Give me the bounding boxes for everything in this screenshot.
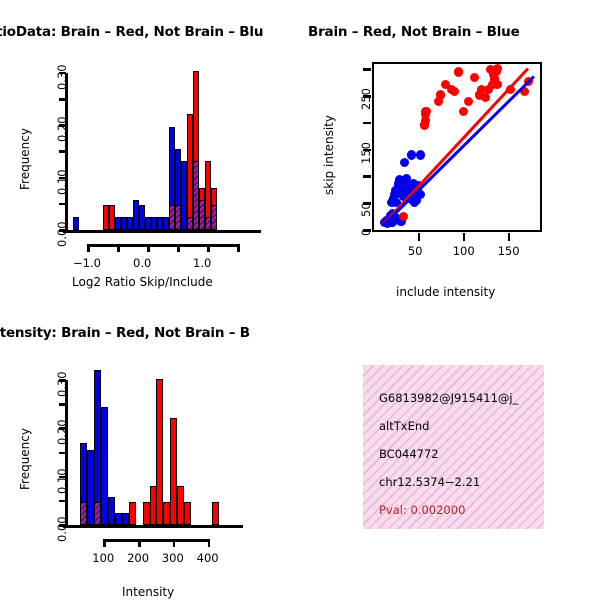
scatter-point-not-brain (407, 150, 416, 159)
y-tick-label: 250 (359, 88, 373, 110)
scatter-point-not-brain (400, 158, 409, 167)
scatter-point-brain (470, 73, 479, 82)
histogram-bar-not-brain (108, 497, 115, 525)
x-tick (117, 244, 120, 252)
y-tick-label: 0.10 (55, 468, 69, 494)
y-tick-label: 50 (359, 203, 373, 218)
scatter-point-brain (450, 87, 459, 96)
x-tick-label: −1.0 (73, 256, 101, 270)
y-tick-label: 0.30 (55, 64, 69, 90)
scatter-point-brain (464, 97, 473, 106)
scatter-point-brain (399, 212, 408, 221)
scatter-point-not-brain (416, 150, 425, 159)
annotation-info-lines: G6813982@J915411@j_altTxEndBC044772chr12… (363, 365, 544, 529)
scatter-point-brain (436, 90, 445, 99)
x-tick (147, 244, 150, 252)
panel-hist-ratio: RatioData: Brain – Red, Not Brain – Blu … (0, 0, 300, 300)
x-tick (87, 244, 90, 252)
scatter-point-brain (459, 107, 468, 116)
y-tick (59, 500, 66, 503)
y-tick (59, 403, 66, 406)
x-tick (463, 233, 466, 241)
y-tick (59, 98, 66, 101)
panel-scatter: Brain – Red, Not Brain – Blue skip inten… (300, 0, 600, 300)
scatter-point-brain (492, 80, 501, 89)
y-tick-label: 0 (359, 229, 373, 236)
panel-hist-intensity-plot-area: 0.000.100.200.30100200300400 (0, 300, 300, 600)
y-tick (363, 175, 371, 178)
scatter-point-brain (421, 107, 430, 116)
y-tick (59, 452, 66, 455)
histogram-bar-brain (184, 502, 191, 525)
x-tick-label: 1.0 (193, 256, 211, 270)
x-tick (237, 244, 240, 252)
x-tick-label: 50 (408, 244, 423, 258)
histogram-bar-brain (150, 486, 157, 525)
histogram-bar-brain (143, 502, 150, 525)
panel-hist-intensity-x-axis (63, 525, 243, 528)
histogram-bar-not-brain (73, 217, 79, 230)
y-tick (363, 68, 371, 71)
annotation-info-box: G6813982@J915411@j_altTxEndBC044772chr12… (363, 365, 544, 529)
x-tick (138, 539, 141, 547)
panel-hist-intensity-x-tick-axis (104, 539, 208, 542)
scatter-data-clip (374, 64, 540, 230)
panel-hist-ratio-plot-area: 0.000.100.200.30−1.00.01.0 (0, 0, 300, 300)
x-tick-label: 300 (162, 551, 184, 565)
fit-line-not-brain (382, 75, 535, 226)
x-tick (508, 233, 511, 241)
histogram-bar-overlap (94, 502, 101, 525)
panel-hist-ratio-x-tick-axis (88, 244, 238, 247)
histogram-bar-not-brain (101, 407, 108, 525)
y-tick-label: 0.20 (55, 420, 69, 446)
panel-hist-ratio-x-axis (63, 230, 261, 233)
x-tick-label: 100 (92, 551, 114, 565)
histogram-bar-not-brain (115, 513, 122, 525)
x-tick-label: 400 (197, 551, 219, 565)
panel-scatter-plot-area: 05015025050100150 (300, 0, 600, 300)
x-tick-label: 200 (127, 551, 149, 565)
histogram-bar-not-brain (87, 450, 94, 525)
annotation-pval-text: Pval: 0.002000 (379, 503, 465, 517)
y-tick (59, 150, 66, 153)
x-tick (418, 233, 421, 241)
annotation-text-line: altTxEnd (379, 419, 429, 433)
histogram-bar-brain (177, 486, 184, 525)
y-tick-label: 150 (359, 142, 373, 164)
y-tick-label: 0.30 (55, 371, 69, 397)
histogram-bar-overlap (211, 205, 217, 230)
x-tick (103, 539, 106, 547)
histogram-bar-brain (129, 502, 136, 525)
x-tick (173, 539, 176, 547)
scatter-point-not-brain (387, 198, 396, 207)
y-tick-label: 0.20 (55, 117, 69, 143)
histogram-bar-not-brain (122, 513, 129, 525)
histogram-bar-overlap (80, 502, 87, 525)
x-tick (208, 539, 211, 547)
x-tick (177, 244, 180, 252)
histogram-bar-brain (156, 379, 163, 525)
y-tick (363, 122, 371, 125)
histogram-bar-brain (212, 502, 219, 525)
x-tick-label: 0.0 (133, 256, 151, 270)
y-tick (59, 203, 66, 206)
y-tick-label: 0.10 (55, 169, 69, 195)
annotation-text-line: G6813982@J915411@j_ (379, 391, 518, 405)
y-tick-label: 0.00 (55, 516, 69, 542)
annotation-text-line: BC044772 (379, 447, 439, 461)
histogram-bar-brain (163, 502, 170, 525)
x-tick-label: 100 (453, 244, 475, 258)
histogram-bar-brain (170, 418, 177, 525)
scatter-point-brain (493, 64, 502, 73)
annotation-text-line: chr12.5374−2.21 (379, 475, 480, 489)
panel-hist-intensity: ne Itensity: Brain – Red, Not Brain – B … (0, 300, 300, 600)
x-tick (207, 244, 210, 252)
y-tick-label: 0.00 (55, 221, 69, 247)
x-tick-label: 150 (498, 244, 520, 258)
scatter-point-brain (454, 67, 463, 76)
